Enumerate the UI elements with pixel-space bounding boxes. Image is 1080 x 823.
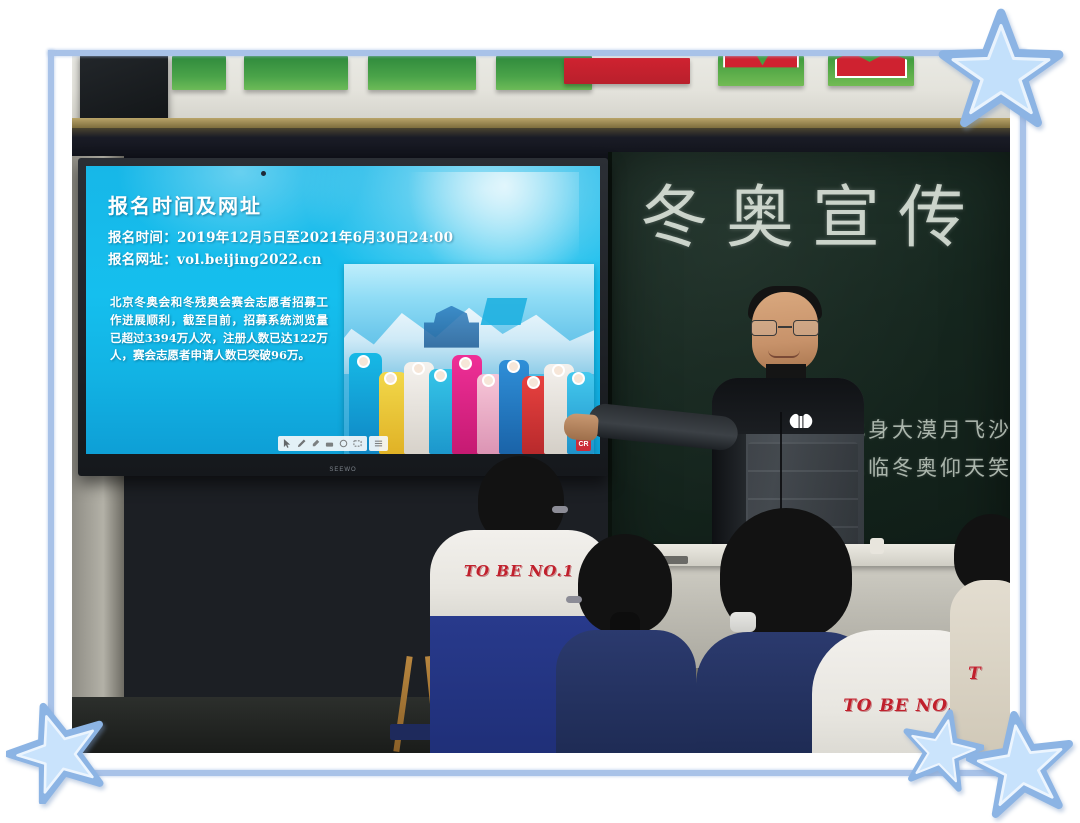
glasses-icon: [750, 320, 820, 336]
wall-panel-flag-2: [828, 56, 914, 86]
frame-border-bottom: [48, 770, 1026, 776]
interactive-whiteboard[interactable]: 报名时间及网址 报名时间：2019年12月5日至2021年6月30日24:00 …: [78, 158, 608, 476]
star-bottom-right-large-icon: [966, 710, 1076, 820]
blackboard-headline: 冬奥宣传: [640, 162, 984, 261]
star-bottom-left-icon: [6, 700, 110, 804]
presentation-slide: 报名时间及网址 报名时间：2019年12月5日至2021年6月30日24:00 …: [86, 166, 600, 454]
poster-stage: 冬奥宣传 此身大漠月飞沙 愿临冬奥仰天笑 报名时间及网址 报名时间：2019年1…: [0, 0, 1080, 823]
toolbar-menu-group[interactable]: [369, 436, 388, 451]
frame-border-right: [1020, 50, 1026, 776]
teacher-smile: [768, 350, 800, 358]
teacher-hand: [563, 413, 599, 441]
jersey-text: T: [968, 664, 982, 684]
whiteboard-toolbar[interactable]: [278, 436, 388, 451]
slide-registration-url: 报名网址：vol.beijing2022.cn: [108, 248, 322, 268]
frame-border-top: [48, 50, 1026, 56]
frame-border-left: [48, 50, 54, 776]
whiteboard-brand-label: SEEWO: [329, 467, 356, 473]
flag-graphic-icon: [723, 56, 799, 78]
wall-panel-green-2: [244, 56, 348, 90]
classroom-upper-wall: [72, 56, 1010, 118]
ceiling-rail: [72, 118, 1010, 128]
eraser-icon[interactable]: [325, 439, 334, 448]
photo-flag: [481, 298, 528, 325]
slide-registration-time: 报名时间：2019年12月5日至2021年6月30日24:00: [108, 226, 453, 246]
list-item: [556, 534, 696, 753]
select-icon[interactable]: [353, 439, 362, 448]
wall-panel-red-banner: [564, 58, 690, 84]
north-face-logo-icon: [786, 412, 816, 430]
hairband: [566, 596, 582, 603]
star-top-right-icon: [938, 8, 1064, 134]
slide-title: 报名时间及网址: [108, 190, 262, 219]
screen-speck: [261, 171, 266, 176]
face-mask: [730, 612, 756, 632]
cursor-icon[interactable]: [283, 439, 292, 448]
highlighter-icon[interactable]: [311, 439, 320, 448]
student-jacket: [556, 630, 696, 753]
wall-panel-flag-1: [718, 56, 804, 86]
toolbar-tool-group[interactable]: [278, 436, 367, 451]
wall-panel-green-3: [368, 56, 476, 90]
classroom-photograph: 冬奥宣传 此身大漠月飞沙 愿临冬奥仰天笑 报名时间及网址 报名时间：2019年1…: [72, 56, 1010, 753]
hairband: [552, 506, 568, 513]
slide-body-paragraph: 北京冬奥会和冬残奥会赛会志愿者招募工作进展顺利，截至目前，招募系统浏览量已超过3…: [110, 294, 328, 365]
flag-graphic-icon: [835, 56, 907, 78]
wall-panel-green-1: [172, 56, 226, 90]
pen-icon[interactable]: [297, 439, 306, 448]
shape-icon[interactable]: [339, 439, 348, 448]
slide-volunteer-photo: CR: [344, 264, 594, 454]
menu-icon[interactable]: [374, 439, 383, 448]
